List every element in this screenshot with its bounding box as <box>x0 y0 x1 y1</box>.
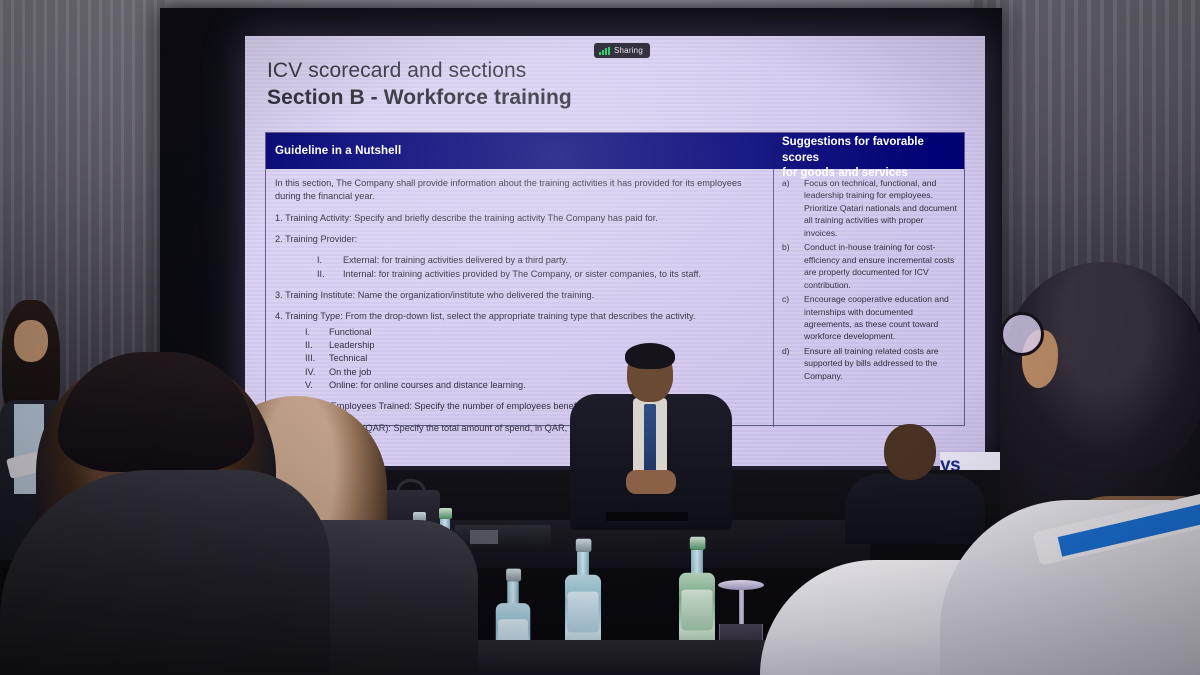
guideline-intro: In this section, The Company shall provi… <box>275 177 764 204</box>
training-type-5-numeral: V. <box>305 379 329 392</box>
presenter-hair <box>625 343 675 369</box>
suggestion-c-text: Encourage cooperative education and inte… <box>804 293 958 343</box>
training-type-1-numeral: I. <box>305 326 329 339</box>
training-type-3-text: Technical <box>329 352 367 365</box>
suggestion-c-marker: c) <box>782 293 804 343</box>
bottle-neck <box>691 550 703 574</box>
guideline-header: Guideline in a Nutshell <box>266 133 774 169</box>
slide-body-row: In this section, The Company shall provi… <box>266 169 964 427</box>
provider-subitem-1-numeral: I. <box>317 254 343 267</box>
bottle-cap <box>575 539 591 552</box>
screenshot-stage: ICV scorecard and sections Section B - W… <box>0 0 1200 675</box>
suggestions-body: a) Focus on technical, functional, and l… <box>774 169 964 427</box>
suggestions-header-line1: Suggestions for favorable scores <box>782 135 958 166</box>
glass-stem <box>739 590 744 624</box>
bottle-cap <box>506 569 521 582</box>
eyeglasses-icon <box>1000 312 1044 356</box>
suggestion-a-text: Focus on technical, functional, and lead… <box>804 177 958 239</box>
slide-title-line1: ICV scorecard and sections <box>267 58 572 83</box>
bottle-neck <box>577 552 589 576</box>
suggestion-d-marker: d) <box>782 345 804 382</box>
guideline-item-3: 3. Training Institute: Name the organiza… <box>275 289 764 302</box>
guideline-item-1: 1. Training Activity: Specify and briefl… <box>275 212 764 225</box>
suggestion-d-text: Ensure all training related costs are su… <box>804 345 958 382</box>
bottle-label <box>567 592 598 633</box>
signal-bars-icon <box>599 47 610 55</box>
guideline-body: In this section, The Company shall provi… <box>266 169 774 427</box>
suggestion-b-marker: b) <box>782 241 804 291</box>
guideline-item-2-text: Training Provider: <box>285 234 357 244</box>
slide-content-box: Guideline in a Nutshell Suggestions for … <box>265 132 965 426</box>
guideline-item-2-num: 2. <box>275 234 283 244</box>
guideline-item-1-text: Training Activity: Specify and briefly d… <box>285 213 658 223</box>
provider-subitem-2: II. Internal: for training activities pr… <box>317 268 764 281</box>
suggestion-d: d) Ensure all training related costs are… <box>782 345 958 382</box>
guideline-item-2: 2. Training Provider: <box>275 233 764 246</box>
seated-attendee-head <box>884 424 936 480</box>
provider-subitem-1-text: External: for training activities delive… <box>343 254 568 267</box>
suggestion-b: b) Conduct in-house training for cost-ef… <box>782 241 958 291</box>
guideline-item-4-text: Training Type: From the drop-down list, … <box>285 311 695 321</box>
training-type-2-numeral: II. <box>305 339 329 352</box>
guideline-item-4-num: 4. <box>275 311 283 321</box>
slide-title-block: ICV scorecard and sections Section B - W… <box>267 58 572 111</box>
training-type-1-text: Functional <box>329 326 371 339</box>
slide-header-row: Guideline in a Nutshell Suggestions for … <box>266 133 964 169</box>
provider-subitem-2-numeral: II. <box>317 268 343 281</box>
attendee-woman-face <box>14 320 48 362</box>
suggestion-c: c) Encourage cooperative education and i… <box>782 293 958 343</box>
guideline-item-1-num: 1. <box>275 213 283 223</box>
training-type-4: IV. On the job <box>305 366 764 379</box>
provider-subitem-1: I. External: for training activities del… <box>317 254 764 267</box>
bottle-label <box>681 590 712 631</box>
suggestion-b-text: Conduct in-house training for cost-effic… <box>804 241 958 291</box>
training-type-3-numeral: III. <box>305 352 329 365</box>
provider-subitem-2-text: Internal: for training activities provid… <box>343 268 701 281</box>
presenter-hands <box>626 470 676 494</box>
training-type-2: II. Leadership <box>305 339 764 352</box>
training-type-4-text: On the job <box>329 366 371 379</box>
training-type-3: III. Technical <box>305 352 764 365</box>
laptop-screen <box>470 530 498 544</box>
suggestions-header: Suggestions for favorable scores for goo… <box>774 133 964 169</box>
glass-foot <box>718 580 764 590</box>
guideline-item-4: 4. Training Type: From the drop-down lis… <box>275 310 764 323</box>
training-type-5: V. Online: for online courses and distan… <box>305 379 764 392</box>
bottle-cap <box>439 508 452 519</box>
suggestion-a: a) Focus on technical, functional, and l… <box>782 177 958 239</box>
guideline-item-3-text: Training Institute: Name the organizatio… <box>285 290 594 300</box>
sharing-badge-label: Sharing <box>614 46 643 55</box>
seated-attendee-body <box>845 474 985 544</box>
training-type-5-text: Online: for online courses and distance … <box>329 379 526 392</box>
training-type-4-numeral: IV. <box>305 366 329 379</box>
slide-title-line2: Section B - Workforce training <box>267 85 572 111</box>
guideline-item-3-num: 3. <box>275 290 283 300</box>
suggestion-a-marker: a) <box>782 177 804 239</box>
bottle-neck <box>507 581 519 604</box>
bottle-cap <box>689 537 705 550</box>
training-type-2-text: Leadership <box>329 339 374 352</box>
sharing-badge[interactable]: Sharing <box>594 43 650 58</box>
presenter-belt <box>606 512 688 521</box>
training-type-1: I. Functional <box>305 326 764 339</box>
